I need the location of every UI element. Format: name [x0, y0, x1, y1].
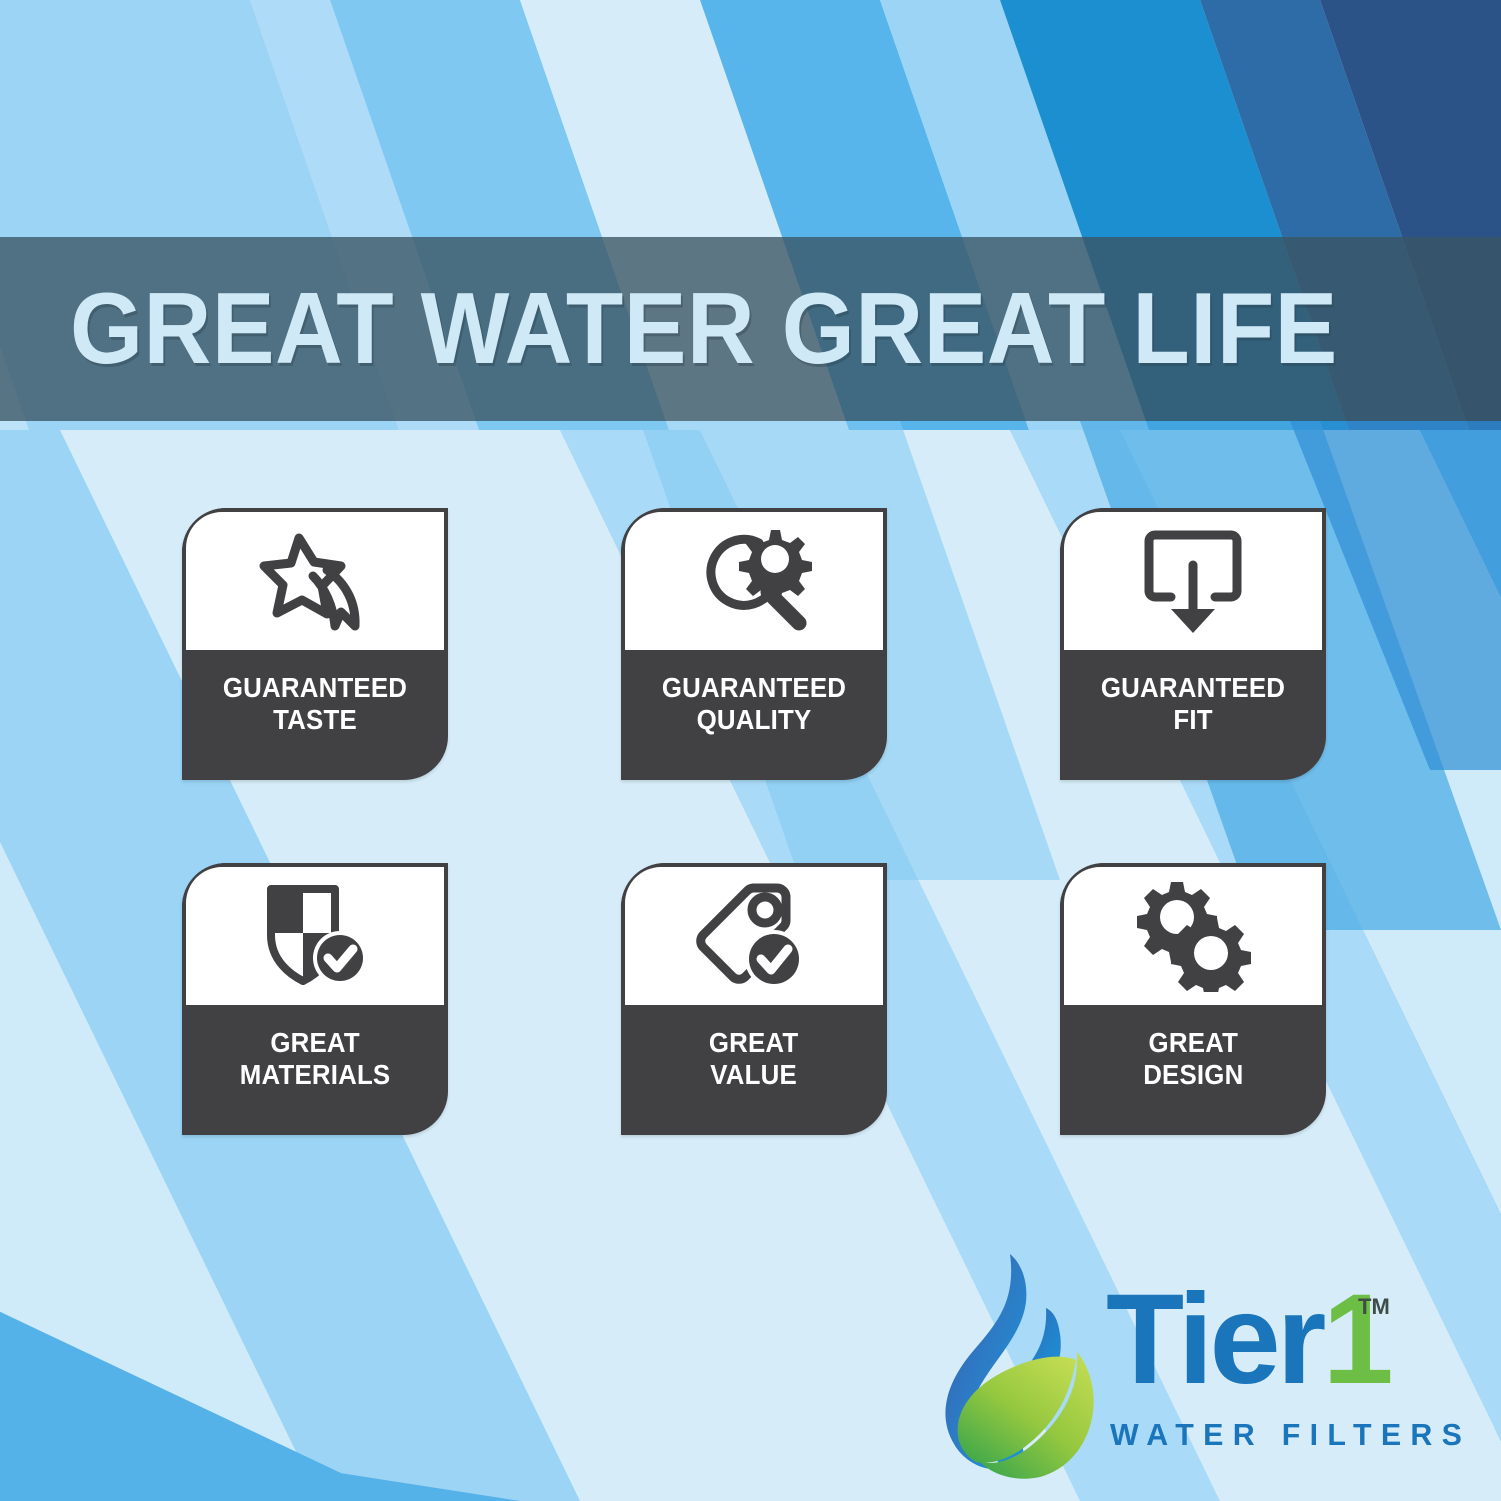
benefit-card-great-value[interactable]: GREAT VALUE — [621, 863, 887, 1135]
card-icon-area — [621, 508, 887, 650]
card-label: GUARANTEED TASTE — [223, 672, 407, 737]
benefit-card-great-materials[interactable]: GREAT MATERIALS — [182, 863, 448, 1135]
card-icon-area — [621, 863, 887, 1005]
card-label-line2: FIT — [1173, 704, 1212, 735]
card-label-line2: TASTE — [273, 704, 357, 735]
card-label-line1: GREAT — [709, 1027, 799, 1058]
card-label: GREAT VALUE — [709, 1027, 799, 1092]
card-label-area: GUARANTEED TASTE — [182, 650, 448, 780]
card-label-area: GUARANTEED FIT — [1060, 650, 1326, 780]
card-label-line1: GUARANTEED — [223, 672, 407, 703]
wordmark-accent: 1 — [1322, 1268, 1389, 1411]
card-label-line2: QUALITY — [697, 704, 812, 735]
card-label: GREAT DESIGN — [1143, 1027, 1243, 1092]
card-label-line1: GREAT — [1148, 1027, 1238, 1058]
wordmark-brand: Tier — [1106, 1268, 1322, 1411]
wordmark-text: Tier1 — [1106, 1276, 1390, 1404]
brand-logo[interactable]: Tier1 TM WATER FILTERS — [938, 1248, 1438, 1488]
two-gears-icon — [1134, 880, 1252, 992]
card-label-line1: GUARANTEED — [1101, 672, 1285, 703]
magnifier-gear-icon — [693, 526, 815, 636]
benefit-card-guaranteed-quality[interactable]: GUARANTEED QUALITY — [621, 508, 887, 780]
card-label-line2: MATERIALS — [240, 1059, 391, 1090]
card-label-area: GREAT DESIGN — [1060, 1005, 1326, 1135]
card-label: GUARANTEED QUALITY — [662, 672, 846, 737]
card-label-area: GREAT VALUE — [621, 1005, 887, 1135]
box-down-arrow-icon — [1141, 525, 1245, 637]
card-label-line2: VALUE — [711, 1059, 798, 1090]
brand-tagline: WATER FILTERS — [1110, 1417, 1471, 1453]
water-droplet-flame-leaf-logo-icon — [938, 1248, 1098, 1483]
card-label: GREAT MATERIALS — [240, 1027, 391, 1092]
price-tag-check-icon — [695, 881, 813, 991]
card-icon-area — [182, 863, 448, 1005]
card-icon-area — [1060, 508, 1326, 650]
card-label-area: GREAT MATERIALS — [182, 1005, 448, 1135]
shield-check-icon — [259, 881, 371, 991]
card-label-line1: GREAT — [270, 1027, 360, 1058]
card-label-area: GUARANTEED QUALITY — [621, 650, 887, 780]
card-icon-area — [182, 508, 448, 650]
card-label-line1: GUARANTEED — [662, 672, 846, 703]
card-icon-area — [1060, 863, 1326, 1005]
card-label-line2: DESIGN — [1143, 1059, 1243, 1090]
shooting-star-icon — [255, 526, 375, 636]
poster-canvas: GREAT WATER GREAT LIFE GUARANTEED — [0, 0, 1501, 1501]
trademark-symbol: TM — [1358, 1294, 1390, 1320]
brand-wordmark: Tier1 TM WATER FILTERS — [1106, 1276, 1436, 1476]
benefit-card-great-design[interactable]: GREAT DESIGN — [1060, 863, 1326, 1135]
benefit-card-guaranteed-taste[interactable]: GUARANTEED TASTE — [182, 508, 448, 780]
card-label: GUARANTEED FIT — [1101, 672, 1285, 737]
benefit-card-guaranteed-fit[interactable]: GUARANTEED FIT — [1060, 508, 1326, 780]
